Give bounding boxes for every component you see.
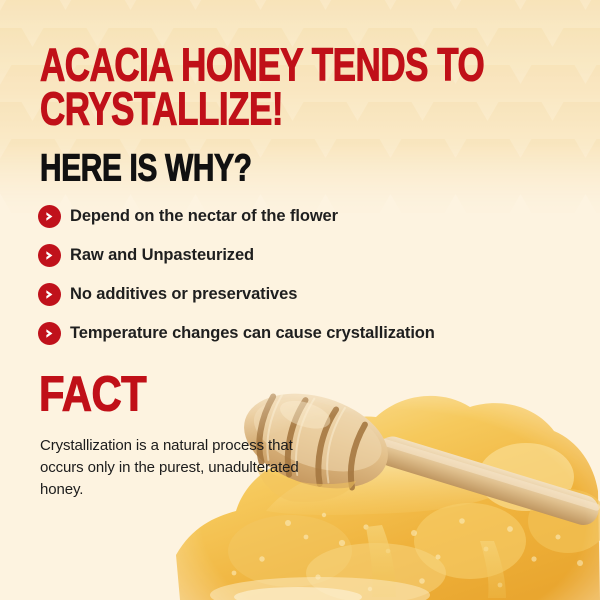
list-item-label: Depend on the nectar of the flower [70,207,338,226]
list-item-label: Temperature changes can cause crystalliz… [70,324,435,343]
chevron-right-circle-icon [38,205,61,228]
list-item: Raw and Unpasteurized [38,242,578,268]
fact-body-text: Crystallization is a natural process tha… [40,435,302,502]
chevron-right-circle-icon [38,322,61,345]
chevron-right-circle-icon [38,283,61,306]
poster-canvas: ACACIA HONEY TENDS TO CRYSTALLIZE! HERE … [0,0,600,600]
subtitle: HERE IS WHY? [40,148,252,186]
reason-list: Depend on the nectar of the flower Raw a… [38,203,578,359]
list-item-label: Raw and Unpasteurized [70,246,254,265]
fact-heading: FACT [39,370,146,419]
chevron-right-circle-icon [38,244,61,267]
list-item: Temperature changes can cause crystalliz… [38,320,578,346]
list-item-label: No additives or preservatives [70,285,297,304]
page-title: ACACIA HONEY TENDS TO CRYSTALLIZE! [40,44,528,132]
list-item: No additives or preservatives [38,281,578,307]
headline-block: ACACIA HONEY TENDS TO CRYSTALLIZE! [40,44,570,116]
list-item: Depend on the nectar of the flower [38,203,578,229]
